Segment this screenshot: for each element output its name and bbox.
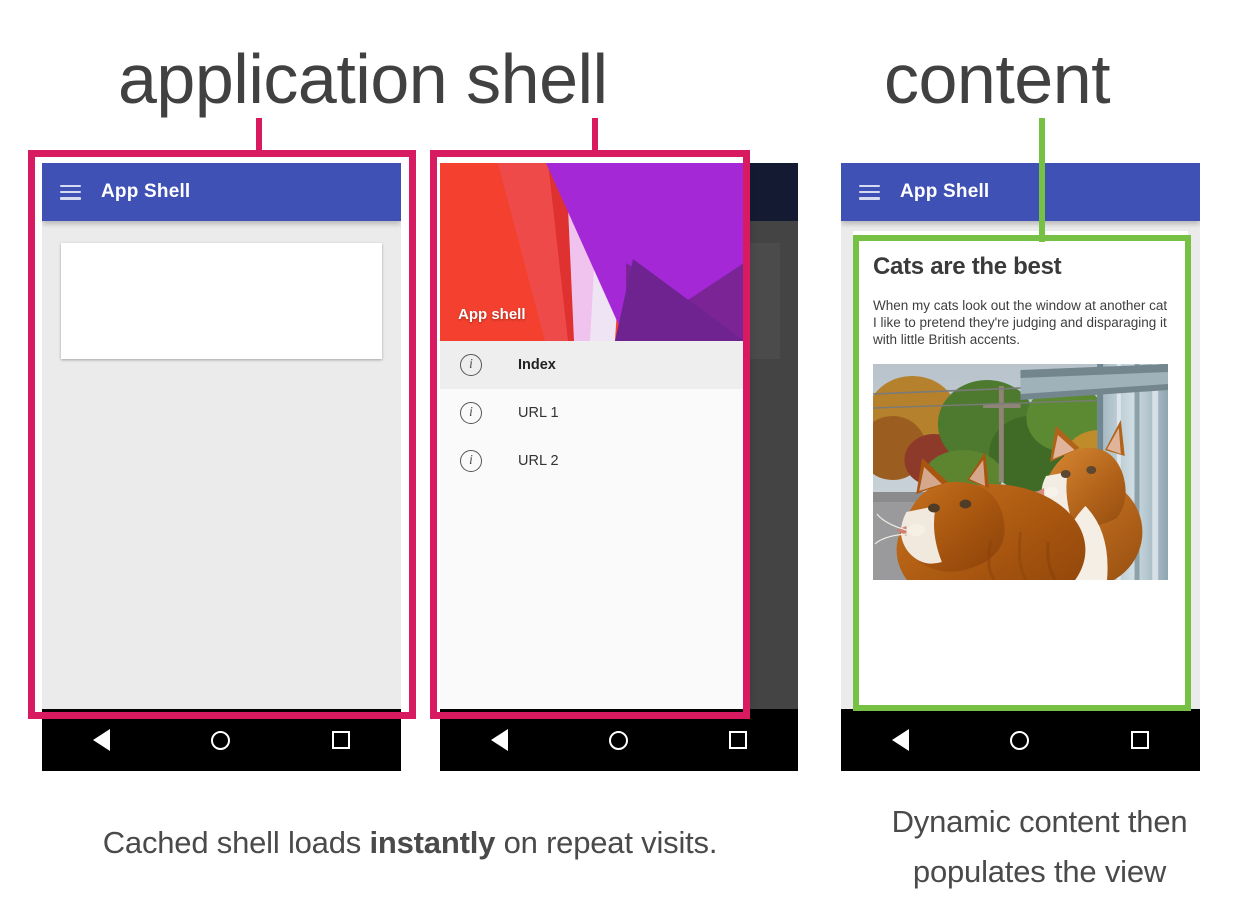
back-triangle-icon[interactable] xyxy=(93,729,110,751)
caption-right-line1: Dynamic content then xyxy=(830,797,1249,847)
annotation-label-content: content xyxy=(884,40,1110,118)
hamburger-icon[interactable] xyxy=(859,185,880,200)
highlight-frame-shell-1 xyxy=(28,150,416,719)
caption-left-emphasis: instantly xyxy=(369,825,495,860)
phone3-appbar-title: App Shell xyxy=(900,181,989,203)
home-circle-icon[interactable] xyxy=(609,731,628,750)
recents-square-icon[interactable] xyxy=(332,731,350,749)
caption-right-line2: populates the view xyxy=(830,847,1249,897)
home-circle-icon[interactable] xyxy=(211,731,230,750)
connector-tick-content xyxy=(1039,118,1045,242)
back-triangle-icon[interactable] xyxy=(892,729,909,751)
recents-square-icon[interactable] xyxy=(729,731,747,749)
recents-square-icon[interactable] xyxy=(1131,731,1149,749)
back-triangle-icon[interactable] xyxy=(491,729,508,751)
caption-left-after: on repeat visits. xyxy=(495,825,717,860)
caption-right: Dynamic content then populates the view xyxy=(830,797,1249,897)
diagram-canvas: application shell content App Shell xyxy=(0,0,1249,923)
phone3-android-navbar xyxy=(841,709,1200,771)
highlight-frame-content xyxy=(853,235,1191,711)
phone3-appbar: App Shell xyxy=(841,163,1200,221)
highlight-frame-shell-2 xyxy=(430,150,750,719)
annotation-label-application-shell: application shell xyxy=(118,40,608,118)
caption-left-before: Cached shell loads xyxy=(103,825,370,860)
caption-left: Cached shell loads instantly on repeat v… xyxy=(0,822,820,864)
home-circle-icon[interactable] xyxy=(1010,731,1029,750)
